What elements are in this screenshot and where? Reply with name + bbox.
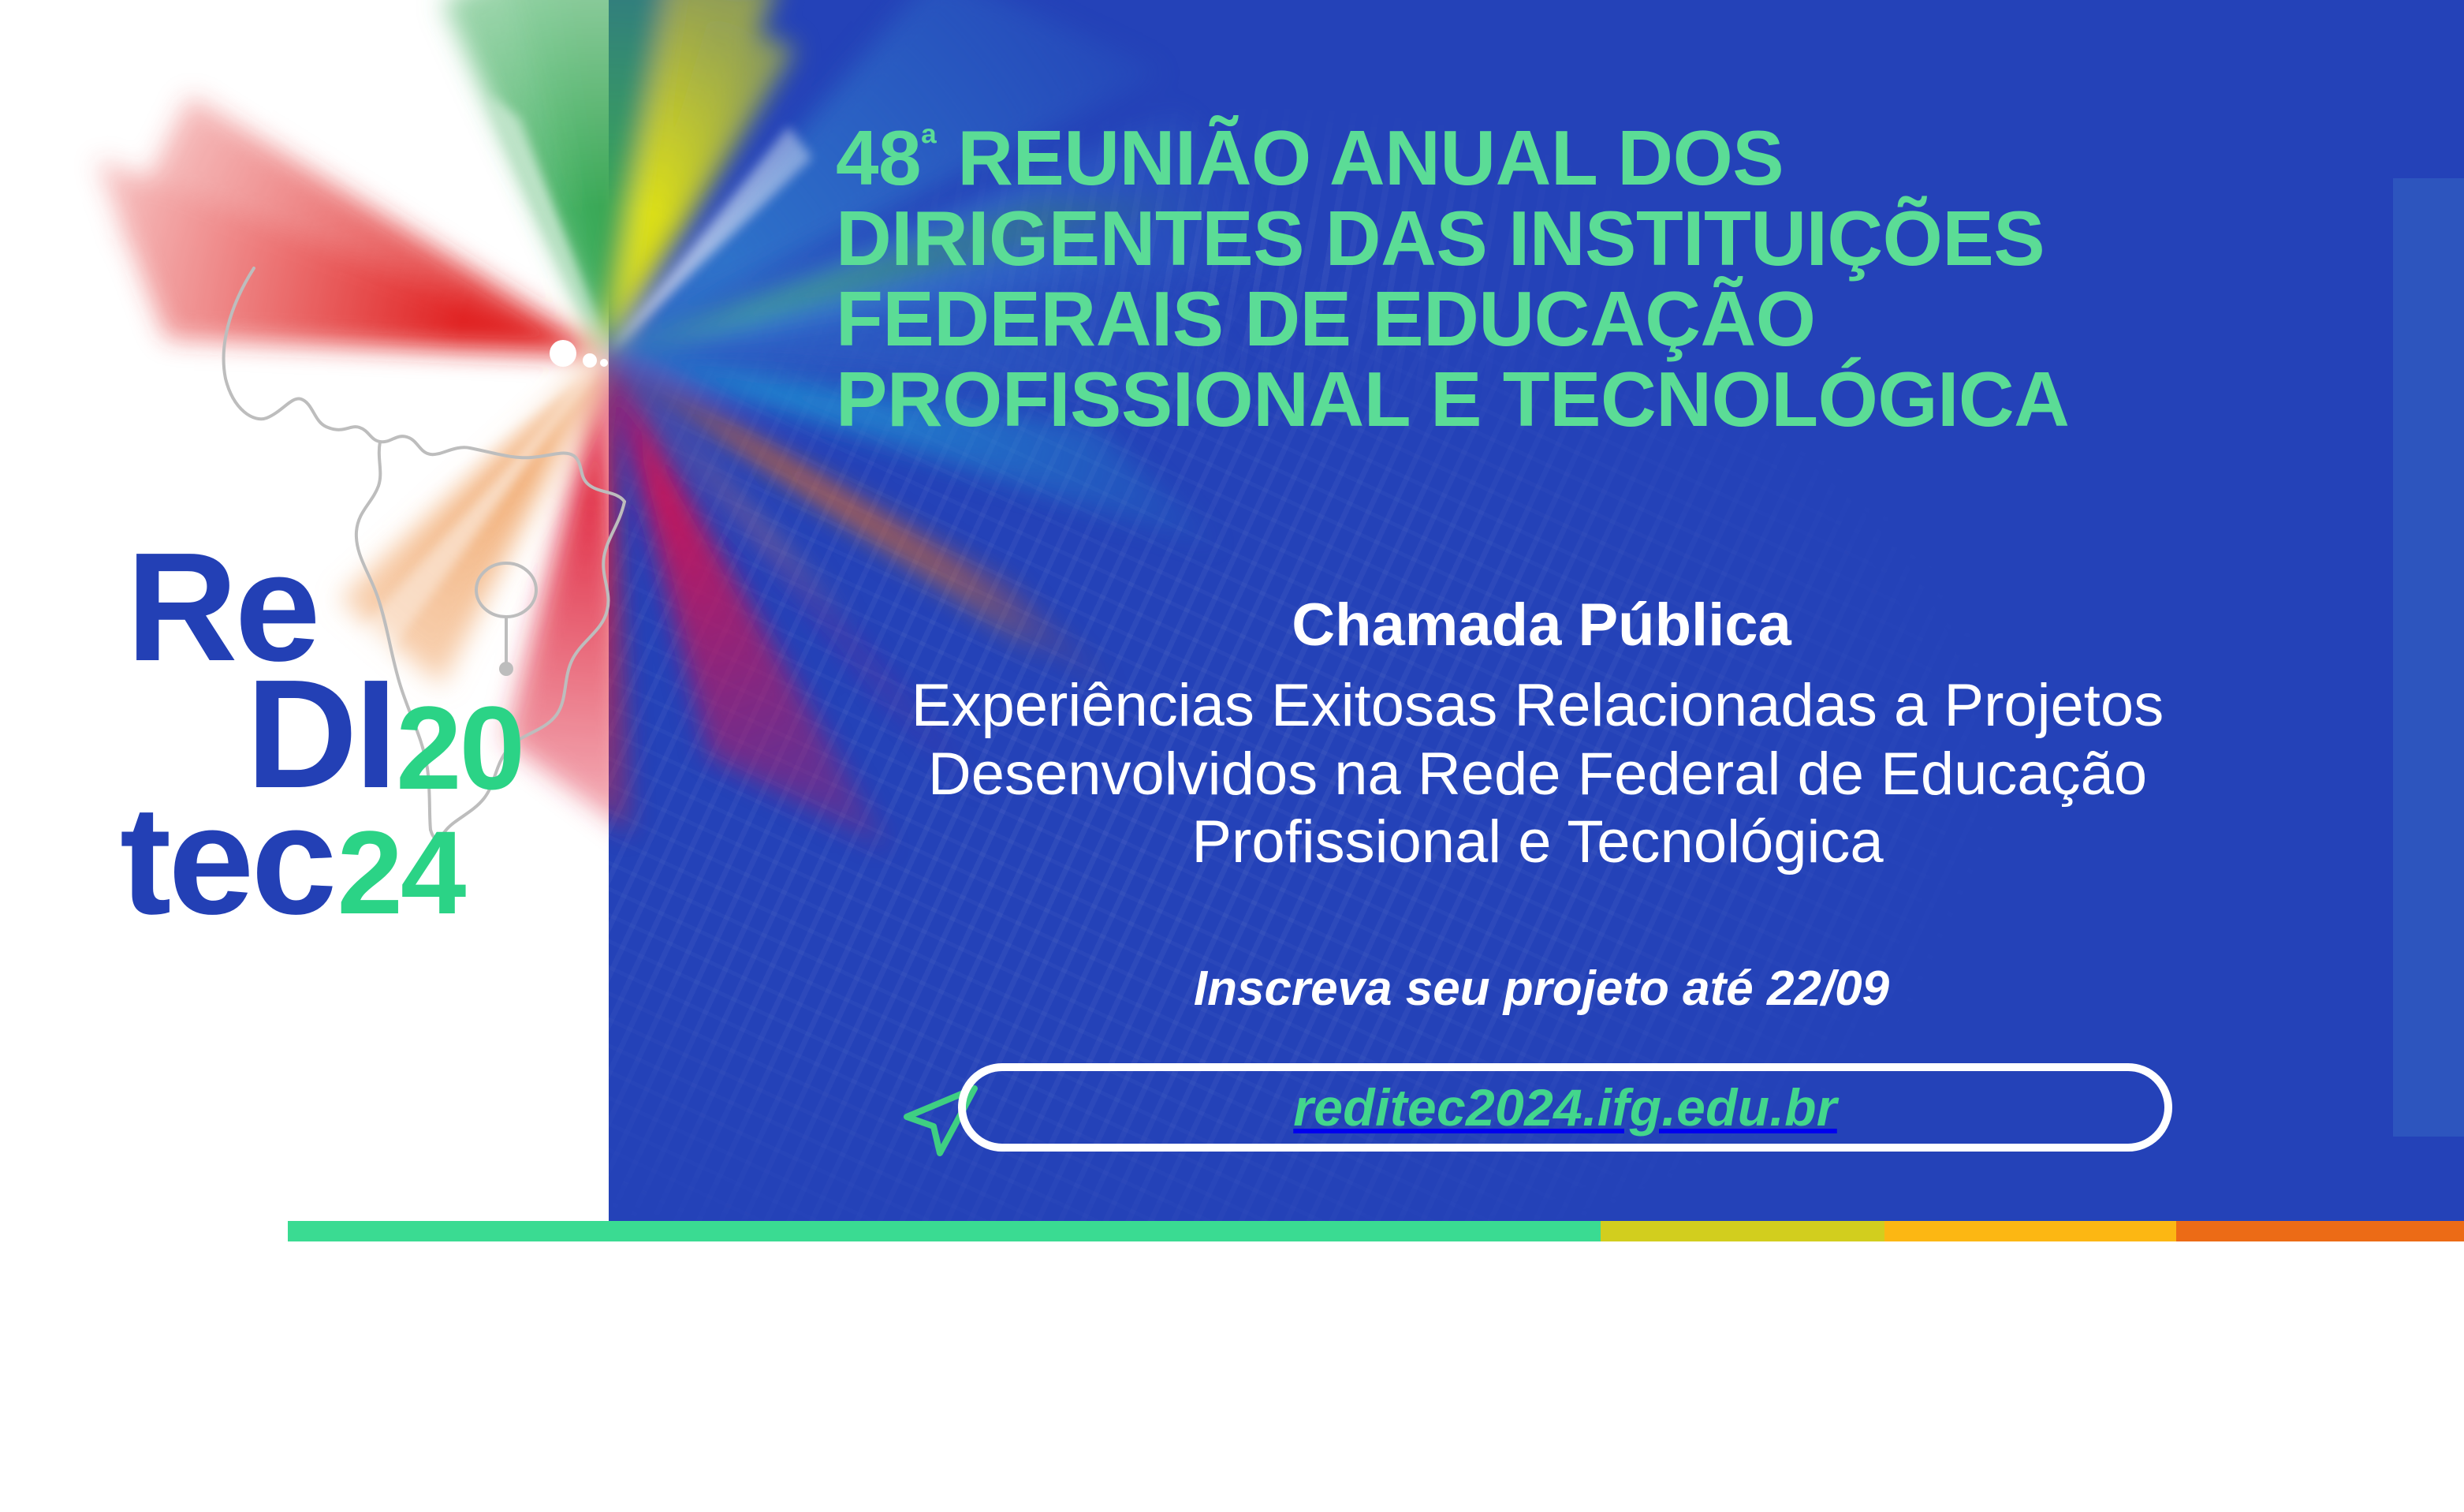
subtitle-line-3: Profissional e Tecnológica [725, 808, 2350, 877]
logo-text-year-24: 24 [337, 824, 464, 921]
registration-url-button[interactable]: reditec2024.ifg.edu.br [958, 1063, 2172, 1152]
color-bar-segment-orange [2176, 1221, 2464, 1241]
subtitle-line-2: Desenvolvidos na Rede Federal de Educaçã… [725, 741, 2350, 809]
headline-line-3: FEDERAIS DE EDUCAÇÃO [836, 279, 2334, 360]
logo-text-tec: tec [120, 797, 334, 924]
headline-ordinal-number: 48 [836, 114, 921, 201]
headline-line-2: DIRIGENTES DAS INSTITUIÇÕES [836, 199, 2334, 279]
color-bar-segment-amber [1884, 1221, 2176, 1241]
logo-text-year-20: 20 [396, 700, 523, 797]
chamada-publica-kicker: Chamada Pública [757, 593, 2326, 658]
right-accent-panel [2393, 178, 2464, 1137]
chamada-subtitle: Experiências Exitosas Relacionadas a Pro… [725, 672, 2350, 877]
registration-url-text: reditec2024.ifg.edu.br [1293, 1077, 1837, 1137]
color-bar-segment-yellow [1601, 1221, 1884, 1241]
footer-logo-bar: ANOS REDE FEDERAL DE EDUCAÇÃO PROFISSION… [0, 1241, 2464, 1512]
poster-canvas: Re DI 20 tec 24 48ª REUNIÃO ANUAL DOS DI… [0, 0, 2464, 1512]
subtitle-line-1: Experiências Exitosas Relacionadas a Pro… [725, 672, 2350, 741]
bottom-color-bar [288, 1221, 2464, 1241]
headline-line-1-rest: REUNIÃO ANUAL DOS [937, 114, 1784, 201]
deadline-text: Inscreva seu projeto até 22/09 [757, 961, 2326, 1017]
event-headline: 48ª REUNIÃO ANUAL DOS DIRIGENTES DAS INS… [836, 118, 2334, 440]
logo-row-tec: tec 24 [126, 797, 568, 924]
headline-line-1: 48ª REUNIÃO ANUAL DOS [836, 118, 2334, 199]
headline-ordinal-suffix: ª [921, 120, 936, 167]
headline-line-4: PROFISSIONAL E TECNOLÓGICA [836, 360, 2334, 440]
color-bar-segment-green [288, 1221, 1601, 1241]
reditec-logo: Re DI 20 tec 24 [126, 544, 568, 931]
